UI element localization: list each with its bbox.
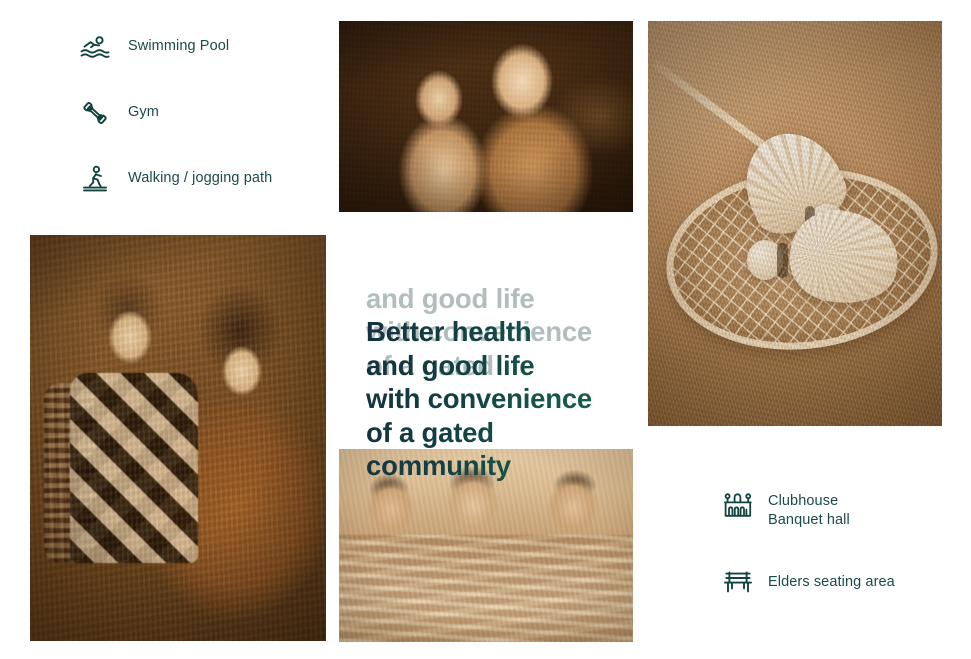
badminton-photo	[648, 21, 942, 426]
amenity-label: Clubhouse Banquet hall	[768, 490, 850, 530]
elderly-couple-photo	[30, 235, 326, 641]
amenity-label: Gym	[128, 96, 159, 122]
amenity-label: Swimming Pool	[128, 30, 229, 56]
amenity-item-swimming-pool[interactable]: Swimming Pool	[78, 30, 318, 64]
amenities-page: Swimming Pool Gym	[0, 0, 971, 659]
swimmer-icon	[78, 30, 112, 64]
gym-photo-vignette	[339, 21, 633, 212]
amenity-item-gym[interactable]: Gym	[78, 96, 318, 130]
elderly-couple-photo-vignette	[30, 235, 326, 641]
amenities-list-left: Swimming Pool Gym	[78, 30, 318, 196]
amenities-list-right: Clubhouse Banquet hall Elders seating ar…	[722, 490, 952, 598]
amenity-item-elders-seating[interactable]: Elders seating area	[722, 566, 952, 598]
dumbbell-icon	[78, 96, 112, 130]
page-title-text: Better health and good life with conveni…	[366, 315, 628, 483]
page-title: and good life with convenience of a gate…	[366, 248, 628, 516]
badminton-photo-vignette	[648, 21, 942, 426]
clubhouse-icon	[722, 490, 754, 522]
amenity-item-walking-path[interactable]: Walking / jogging path	[78, 162, 318, 196]
amenity-label: Walking / jogging path	[128, 162, 272, 188]
gym-photo	[339, 21, 633, 212]
walking-person-icon	[78, 162, 112, 196]
park-bench-icon	[722, 566, 754, 598]
amenity-label: Elders seating area	[768, 566, 895, 592]
amenity-item-clubhouse[interactable]: Clubhouse Banquet hall	[722, 490, 952, 530]
